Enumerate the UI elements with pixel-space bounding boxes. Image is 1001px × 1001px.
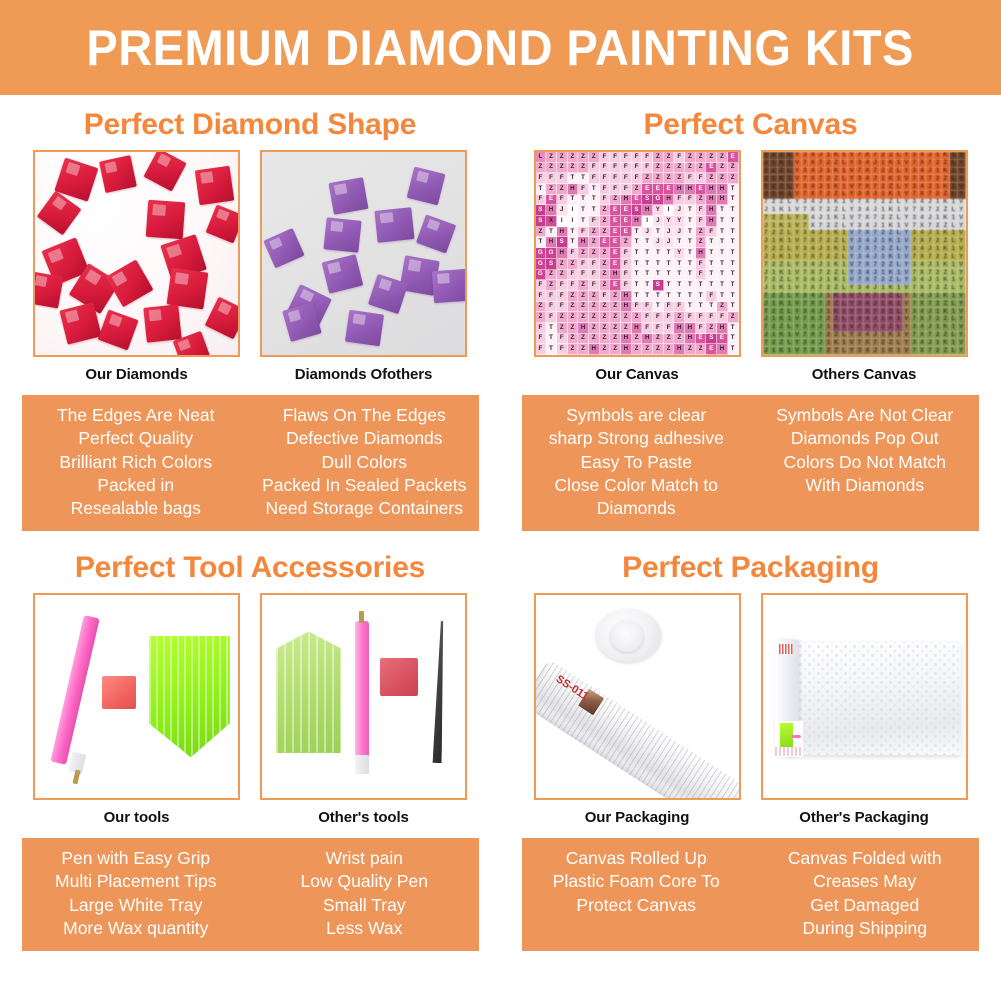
cell-other-tools: Other's tools [260,593,467,826]
photo-frame [260,593,467,800]
comparison-grid: Perfect Diamond Shape [0,95,1001,981]
purple-diamond-drills-photo [262,152,465,355]
photo-pair: SS-011 Our Packaging [500,593,1001,826]
cell-other-packaging: Other's Packaging [761,593,968,826]
cell-our-canvas: LZZZZZFFFFFZZFZZZZEZZZZZFFFFFFZZZZZEZZFF… [534,150,741,383]
cell-other-canvas: 72ZLY34J1K1V7X72ZLY34J1K1VJ1K1V7X72ZLY34… [761,150,968,383]
feature-list-theirs: Flaws On The Edges Defective Diamonds Du… [250,404,479,520]
photo-pair: Our Diamonds [0,150,500,383]
feature-list-ours: Pen with Easy Grip Multi Placement Tips … [22,847,251,940]
infographic-page: PREMIUM DIAMOND PAINTING KITS Perfect Di… [0,0,1001,1001]
red-diamond-drills-photo [35,152,238,355]
section-tool-accessories: Perfect Tool Accessories [0,538,500,981]
section-diamond-shape: Perfect Diamond Shape [0,95,500,538]
cell-caption: Other's Packaging [761,800,968,826]
photo-frame: LZZZZZFFFFFZZFZZZZEZZZZZFFFFFFZZZZZEZZFF… [534,150,741,357]
cell-caption: Our Packaging [534,800,741,826]
cell-caption: Other's tools [260,800,467,826]
cell-caption: Diamonds Ofothers [260,357,467,383]
feature-list-ours: The Edges Are Neat Perfect Quality Brill… [22,404,251,520]
feature-list-theirs: Canvas Folded with Creases May Get Damag… [751,847,980,940]
rolled-canvas-tube-photo: SS-011 [536,595,739,798]
diamond-tray [276,632,341,754]
cell-our-tools: Our tools [33,593,240,826]
photo-pair: Our tools [0,593,500,826]
cell-caption: Our Canvas [534,357,741,383]
photo-frame [761,593,968,800]
wax-square [102,676,137,708]
feature-list-theirs: Symbols Are Not Clear Diamonds Pop Out C… [751,404,980,520]
photo-frame: 72ZLY34J1K1V7X72ZLY34J1K1VJ1K1V7X72ZLY34… [761,150,968,357]
pink-symbol-canvas-photo: LZZZZZFFFFFZZFZZZZEZZZZZFFFFFFZZZZZEZZFF… [536,152,739,355]
photo-frame [33,150,240,357]
bubble-mailer-photo [763,595,966,798]
feature-panel: The Edges Are Neat Perfect Quality Brill… [22,395,479,531]
feature-list-ours: Canvas Rolled Up Plastic Foam Core To Pr… [522,847,751,940]
feature-list-ours: Symbols are clear sharp Strong adhesive … [522,404,751,520]
wax-square [380,658,419,697]
section-packaging: Perfect Packaging SS-011 [500,538,1001,981]
section-heading: Perfect Canvas [500,95,1001,150]
feature-list-theirs: Wrist pain Low Quality Pen Small Tray Le… [250,847,479,940]
feature-panel: Symbols are clear sharp Strong adhesive … [522,395,979,531]
cell-caption: Our Diamonds [33,357,240,383]
section-heading: Perfect Diamond Shape [0,95,500,150]
cell-caption: Our tools [33,800,240,826]
bubble-mailer [787,642,962,756]
section-canvas: Perfect Canvas LZZZZZFFFFFZZFZZZZEZZZZZF… [500,95,1001,538]
feature-panel: Canvas Rolled Up Plastic Foam Core To Pr… [522,838,979,951]
cell-other-diamonds: Diamonds Ofothers [260,150,467,383]
photo-frame: SS-011 [534,593,741,800]
mailer-contents [775,721,803,758]
cell-caption: Others Canvas [761,357,968,383]
cell-our-packaging: SS-011 Our Packaging [534,593,741,826]
other-tools-photo [262,595,465,798]
feature-panel: Pen with Easy Grip Multi Placement Tips … [22,838,479,951]
section-heading: Perfect Packaging [500,538,1001,593]
page-title: PREMIUM DIAMOND PAINTING KITS [87,19,914,77]
cell-our-diamonds: Our Diamonds [33,150,240,383]
photo-frame [260,150,467,357]
photo-frame [33,593,240,800]
our-tools-photo [35,595,238,798]
diamond-pen [355,621,368,767]
photo-pair: LZZZZZFFFFFZZFZZZZEZZZZZFFFFFFZZZZZEZZFF… [500,150,1001,383]
header-band: PREMIUM DIAMOND PAINTING KITS [0,0,1001,95]
section-heading: Perfect Tool Accessories [0,538,500,593]
blurry-color-canvas-photo: 72ZLY34J1K1V7X72ZLY34J1K1VJ1K1V7X72ZLY34… [763,152,966,355]
